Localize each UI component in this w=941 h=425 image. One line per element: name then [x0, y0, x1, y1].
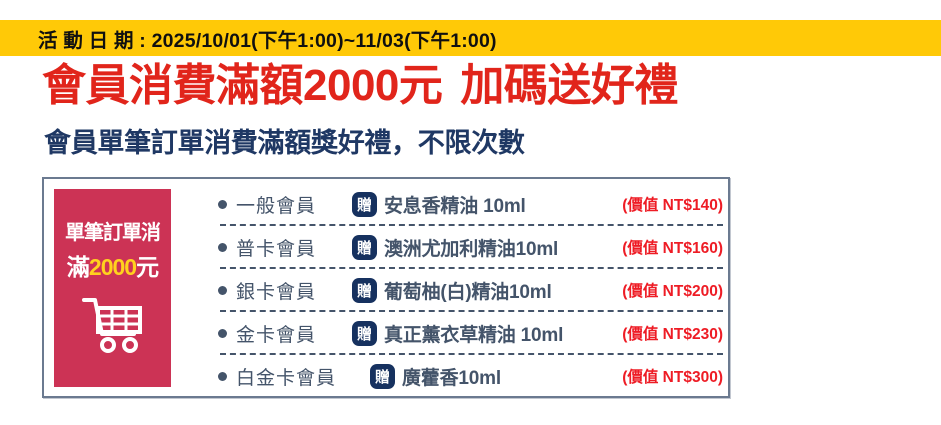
page-title: 會員消費滿額2000元加碼送好禮 — [42, 60, 678, 112]
threshold-prefix: 滿 — [67, 254, 89, 280]
list-item: 白金卡會員 贈 廣藿香10ml (價值 NT$300) — [218, 358, 723, 394]
gift-value: (價值 NT$230) — [622, 322, 723, 344]
spend-threshold-card: 單筆訂單消 滿2000元 — [54, 189, 171, 387]
gift-group: 贈 安息香精油 10ml — [352, 191, 526, 218]
gift-name: 安息香精油 10ml — [384, 191, 526, 218]
member-tier-label: 一般會員 — [236, 191, 316, 218]
bullet-icon — [218, 200, 227, 209]
product-photo-area: ESSENTIAL PURE & NATURAL ESSENTIAL OIL 荷… — [740, 56, 941, 425]
list-item: 一般會員 贈 安息香精油 10ml (價值 NT$140) — [218, 186, 723, 222]
row-divider — [220, 267, 723, 269]
row-divider — [220, 353, 723, 355]
member-tier-label: 銀卡會員 — [236, 277, 316, 304]
gift-value: (價值 NT$160) — [622, 236, 723, 258]
gift-badge-icon: 贈 — [352, 278, 377, 303]
list-item: 銀卡會員 贈 葡萄柚(白)精油10ml (價值 NT$200) — [218, 272, 723, 308]
gift-name: 廣藿香10ml — [402, 363, 501, 390]
threshold-line-2: 滿2000元 — [67, 248, 158, 282]
member-tier-label: 白金卡會員 — [236, 363, 336, 390]
bullet-icon — [218, 329, 227, 338]
threshold-suffix: 元 — [136, 254, 158, 280]
gift-name: 真正薰衣草精油 10ml — [384, 320, 563, 347]
gift-group: 贈 廣藿香10ml — [370, 363, 501, 390]
gift-badge-icon: 贈 — [352, 321, 377, 346]
gift-name: 葡萄柚(白)精油10ml — [384, 277, 552, 304]
gift-value: (價值 NT$300) — [622, 365, 723, 387]
gift-badge-icon: 贈 — [370, 364, 395, 389]
gift-badge-icon: 贈 — [352, 235, 377, 260]
row-divider — [220, 224, 723, 226]
bullet-icon — [218, 372, 227, 381]
gift-group: 贈 葡萄柚(白)精油10ml — [352, 277, 552, 304]
shopping-cart-icon — [82, 296, 144, 354]
bullet-icon — [218, 286, 227, 295]
gift-value: (價值 NT$200) — [622, 279, 723, 301]
threshold-line-1: 單筆訂單消 — [65, 216, 160, 245]
page-subtitle: 會員單筆訂單消費滿額獎好禮，不限次數 — [44, 126, 525, 160]
promotional-banner: 活 動 日 期 : 2025/10/01(下午1:00)~11/03(下午1:0… — [0, 0, 941, 425]
row-divider — [220, 310, 723, 312]
campaign-date-bar: 活 動 日 期 : 2025/10/01(下午1:00)~11/03(下午1:0… — [0, 20, 941, 56]
headline-part-1: 會員消費滿額2000元 — [42, 61, 442, 110]
gift-value: (價值 NT$140) — [622, 193, 723, 215]
gift-group: 贈 真正薰衣草精油 10ml — [352, 320, 563, 347]
campaign-date-text: 活 動 日 期 : 2025/10/01(下午1:00)~11/03(下午1:0… — [38, 24, 497, 53]
list-item: 金卡會員 贈 真正薰衣草精油 10ml (價值 NT$230) — [218, 315, 723, 351]
gift-list: 一般會員 贈 安息香精油 10ml (價值 NT$140) 普卡會員 贈 澳洲尤… — [218, 186, 723, 394]
bullet-icon — [218, 243, 227, 252]
member-tier-label: 普卡會員 — [236, 234, 316, 261]
headline-part-2: 加碼送好禮 — [460, 61, 678, 110]
threshold-amount: 2000 — [89, 254, 136, 280]
gift-name: 澳洲尤加利精油10ml — [384, 234, 558, 261]
member-tier-label: 金卡會員 — [236, 320, 316, 347]
gift-group: 贈 澳洲尤加利精油10ml — [352, 234, 558, 261]
gift-badge-icon: 贈 — [352, 192, 377, 217]
list-item: 普卡會員 贈 澳洲尤加利精油10ml (價值 NT$160) — [218, 229, 723, 265]
